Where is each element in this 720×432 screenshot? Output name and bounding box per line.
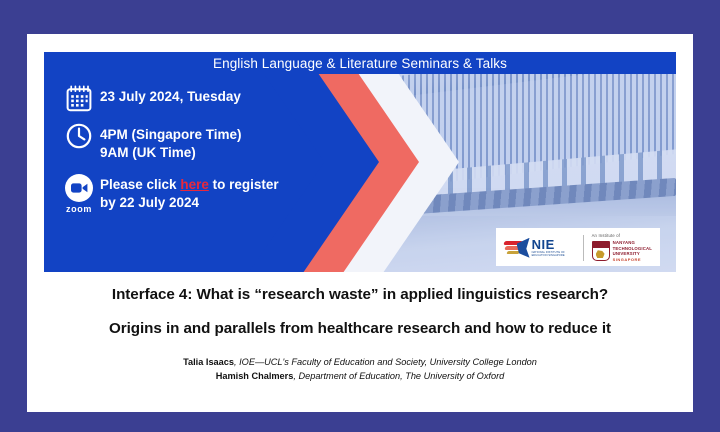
nie-logo-text: NIE NATIONAL INSTITUTE OF EDUCATION SING… xyxy=(532,238,566,258)
event-time-row: 4PM (Singapore Time) 9AM (UK Time) xyxy=(58,122,279,162)
register-deadline: by 22 July 2024 xyxy=(100,194,279,212)
speaker-name: Talia Isaacs xyxy=(183,357,234,367)
event-registration-row: zoom Please click here to register by 22… xyxy=(58,172,279,214)
speaker-row: Hamish Chalmers, Department of Education… xyxy=(27,369,693,383)
nie-swoosh-icon xyxy=(504,237,530,259)
calendar-icon xyxy=(58,84,100,112)
event-date-row: 23 July 2024, Tuesday xyxy=(58,84,279,112)
event-date-value: 23 July 2024, Tuesday xyxy=(100,89,241,104)
logo-strip: NIE NATIONAL INSTITUTE OF EDUCATION SING… xyxy=(496,228,660,266)
clock-icon xyxy=(58,122,100,149)
poster-root: English Language & Literature Seminars &… xyxy=(0,0,720,432)
register-prefix: Please click xyxy=(100,177,180,192)
event-time-sg: 4PM (Singapore Time) xyxy=(100,127,242,142)
ntu-logo-body: NANYANG TECHNOLOGICAL UNIVERSITY SINGAPO… xyxy=(592,240,652,262)
talk-title-block: Interface 4: What is “research waste” in… xyxy=(27,286,693,337)
nie-logo: NIE NATIONAL INSTITUTE OF EDUCATION SING… xyxy=(504,237,575,259)
poster-card: English Language & Literature Seminars &… xyxy=(27,34,693,412)
event-time-text: 4PM (Singapore Time) 9AM (UK Time) xyxy=(100,122,242,162)
speaker-row: Talia Isaacs, IOE—UCL's Faculty of Educa… xyxy=(27,355,693,369)
ntu-wordmark: NANYANG TECHNOLOGICAL UNIVERSITY SINGAPO… xyxy=(613,240,652,262)
speaker-block: Talia Isaacs, IOE—UCL's Faculty of Educa… xyxy=(27,355,693,383)
zoom-wordmark: zoom xyxy=(66,204,92,214)
event-details: 23 July 2024, Tuesday 4PM (Singapore Tim… xyxy=(58,84,279,224)
talk-title-line-2: Origins in and parallels from healthcare… xyxy=(27,320,693,337)
nie-fullname: NATIONAL INSTITUTE OF EDUCATION SINGAPOR… xyxy=(532,251,566,258)
series-title: English Language & Literature Seminars &… xyxy=(44,56,676,71)
event-time-uk: 9AM (UK Time) xyxy=(100,144,242,162)
talk-title-line-1: Interface 4: What is “research waste” in… xyxy=(27,286,693,303)
register-suffix: to register xyxy=(209,177,279,192)
speaker-name: Hamish Chalmers xyxy=(216,371,294,381)
zoom-camera-icon[interactable]: zoom xyxy=(58,172,100,214)
register-here-link[interactable]: here xyxy=(180,177,209,192)
nie-acronym: NIE xyxy=(532,238,566,251)
logo-divider xyxy=(583,235,584,261)
ntu-tagline: An Institute of xyxy=(592,233,652,238)
ntu-crest-icon xyxy=(592,241,610,261)
speaker-affiliation: , IOE—UCL's Faculty of Education and Soc… xyxy=(234,357,537,367)
event-registration-text: Please click here to register by 22 July… xyxy=(100,172,279,212)
ntu-line-3: UNIVERSITY xyxy=(613,251,652,256)
ntu-logo: An Institute of NANYANG TECHNOLOGICAL UN… xyxy=(592,233,652,262)
event-date-text: 23 July 2024, Tuesday xyxy=(100,84,241,106)
event-banner: English Language & Literature Seminars &… xyxy=(44,52,676,272)
ntu-line-4: SINGAPORE xyxy=(613,257,652,262)
speaker-affiliation: , Department of Education, The Universit… xyxy=(293,371,504,381)
